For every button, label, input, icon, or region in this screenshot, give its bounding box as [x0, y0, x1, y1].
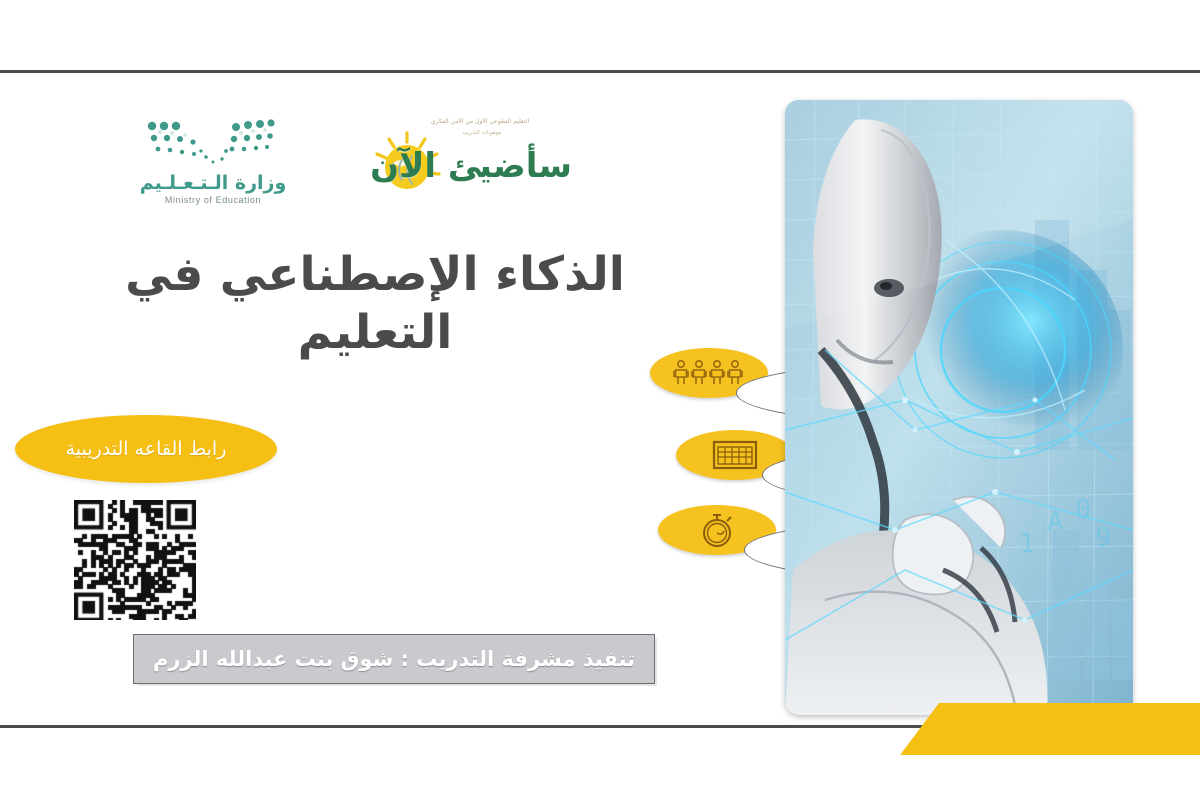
ai-robot-photo-graphic: A0 19 [785, 100, 1133, 715]
svg-text:A: A [1047, 507, 1063, 537]
stopwatch-icon [695, 510, 739, 550]
presenter-label: تنفيذ مشرفة التدريب : شوق بنت عبدالله ال… [153, 647, 635, 671]
ministry-logo-english-text: Ministry of Education [108, 195, 318, 205]
page-title: الذكاء الإصطناعي في التعليم [55, 246, 695, 362]
ai-robot-photo: A0 19 [785, 100, 1133, 715]
training-hall-link-label: رابط القاعه التدريبية [66, 438, 227, 460]
bottom-yellow-slant-decoration [900, 703, 1200, 755]
top-divider-rule [0, 70, 1200, 73]
moe-palm-dots-mark [138, 118, 288, 170]
campaign-tagline-line1: التعليم التطوعي الأول من الأمن الفكري [400, 118, 560, 126]
svg-text:0: 0 [1075, 495, 1091, 525]
presenter-bar: تنفيذ مشرفة التدريب : شوق بنت عبدالله ال… [133, 634, 655, 684]
training-hall-link-button[interactable]: رابط القاعه التدريبية [15, 415, 277, 483]
ministry-of-education-logo: وزارة الـتـعـلـيم Ministry of Education [108, 118, 318, 218]
qr-code[interactable] [74, 500, 196, 620]
ministry-logo-arabic-text: وزارة الـتـعـلـيم [108, 172, 318, 194]
campaign-headline: سأضيئ الآن [370, 146, 572, 186]
calendar-icon [712, 439, 758, 471]
svg-text:1: 1 [1019, 529, 1035, 559]
group-of-people-icon [672, 359, 746, 387]
campaign-tagline-line2: موهوبات التدريب [412, 130, 552, 137]
poster-slide: وزارة الـتـعـلـيم Ministry of Education [0, 0, 1200, 801]
svg-text:9: 9 [1095, 523, 1111, 553]
campaign-logo: التعليم التطوعي الأول من الأمن الفكري مو… [372, 112, 612, 212]
